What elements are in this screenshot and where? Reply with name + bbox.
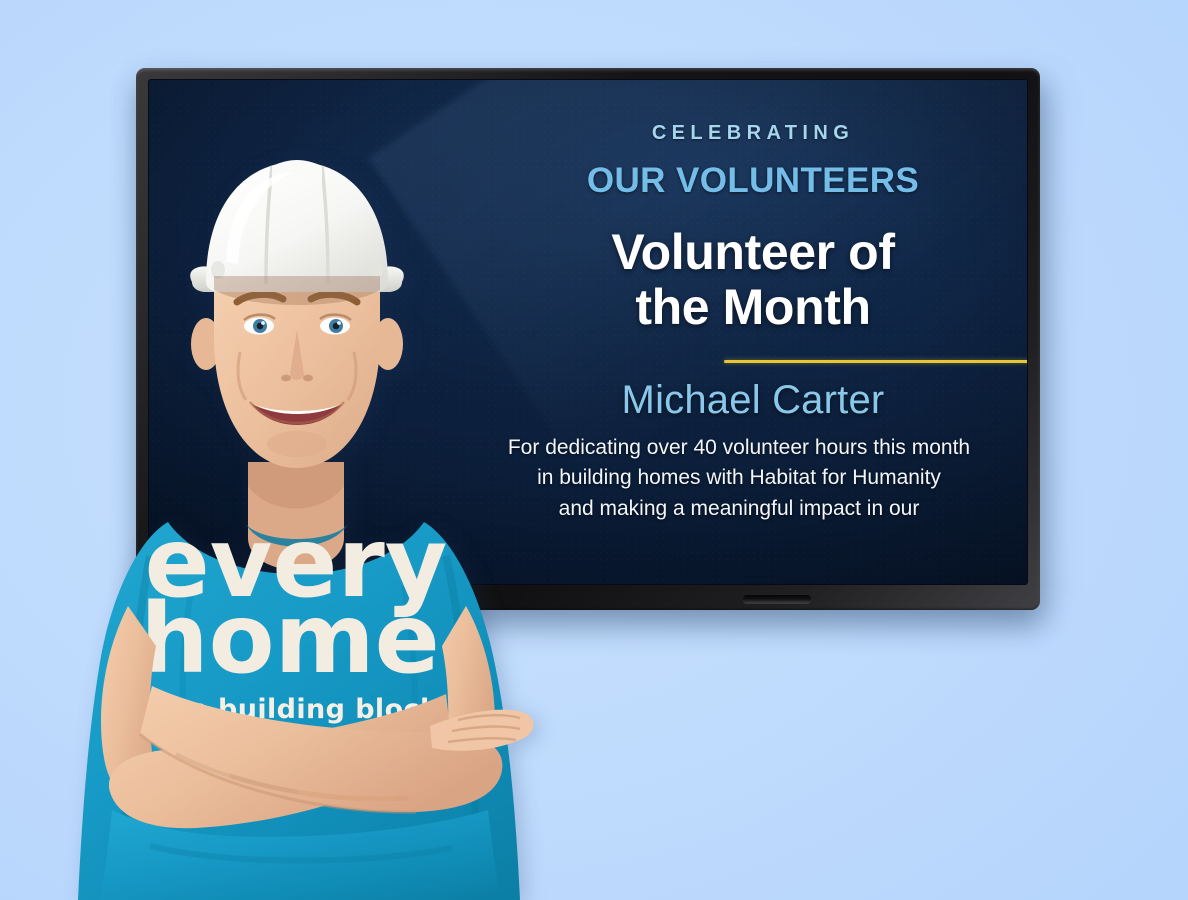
crossed-arms <box>101 606 534 828</box>
hand <box>430 710 534 751</box>
upper-arm-left <box>101 606 168 809</box>
finger-line-3 <box>448 738 516 742</box>
volunteer-recognition-slide: CELEBRATING OUR VOLUNTEERS Volunteer of … <box>149 80 1027 584</box>
finger-line-1 <box>458 715 520 720</box>
upper-arm-right <box>430 606 495 809</box>
forearm-back <box>109 694 452 828</box>
citation-line-3: and making a meaningful impact in our <box>479 494 999 524</box>
honoree-name: Michael Carter <box>479 378 1027 423</box>
slide-subject-heading: OUR VOLUNTEERS <box>479 161 1027 201</box>
forearm-front-edge <box>140 734 416 812</box>
forearm-vein <box>176 754 298 792</box>
gold-divider-rule <box>724 360 1027 363</box>
finger-line-2 <box>452 727 520 731</box>
tv-bezel: CELEBRATING OUR VOLUNTEERS Volunteer of … <box>136 68 1040 610</box>
scene-root: CELEBRATING OUR VOLUNTEERS Volunteer of … <box>0 0 1188 900</box>
slide-title: Volunteer of the Month <box>479 225 1027 335</box>
tv-screen[interactable]: CELEBRATING OUR VOLUNTEERS Volunteer of … <box>149 80 1027 584</box>
shirt-tagline: is a building block <box>154 694 439 725</box>
citation-text: For dedicating over 40 volunteer hours t… <box>479 433 999 524</box>
tv-speaker-slot <box>743 595 811 603</box>
t-shirt-lower <box>100 810 500 900</box>
slide-kicker: CELEBRATING <box>479 122 1027 145</box>
wall-mounted-tv[interactable]: CELEBRATING OUR VOLUNTEERS Volunteer of … <box>136 68 1040 610</box>
citation-line-2: in building homes with Habitat for Human… <box>479 463 999 493</box>
citation-line-1: For dedicating over 40 volunteer hours t… <box>479 433 999 463</box>
forearm-shading <box>230 776 408 799</box>
slide-title-line-1: Volunteer of <box>479 225 1027 280</box>
t-shirt-lower-fold <box>150 846 452 861</box>
slide-title-line-2: the Month <box>479 280 1027 335</box>
forearm-front <box>140 686 502 812</box>
